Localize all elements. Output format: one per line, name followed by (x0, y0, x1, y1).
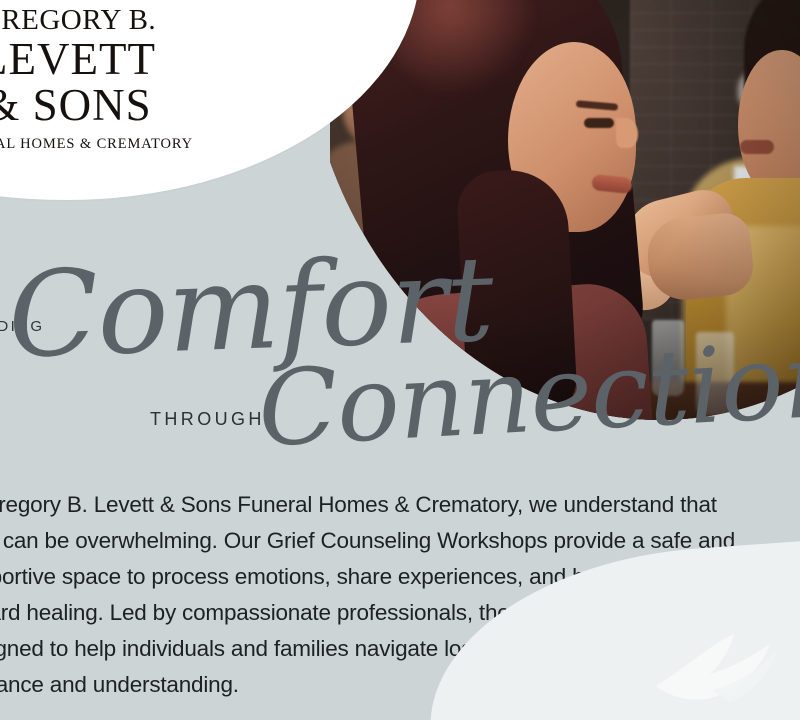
headline-script-connection: Connection (256, 327, 800, 462)
body-line: grief can be overwhelming. Our Grief Cou… (0, 523, 754, 559)
logo-line-2: LEVETT (0, 37, 198, 82)
body-line: At Gregory B. Levett & Sons Funeral Home… (0, 487, 754, 523)
logo-line-3: & SONS (0, 83, 198, 128)
dove-mark-icon (652, 628, 800, 720)
brand-logo: GREGORY B. LEVETT & SONS FUNERAL HOMES &… (0, 6, 198, 152)
logo-line-1: GREGORY B. (0, 6, 198, 35)
logo-line-4: FUNERAL HOMES & CREMATORY (0, 137, 198, 152)
poster-canvas: GREGORY B. LEVETT & SONS FUNERAL HOMES &… (0, 0, 800, 720)
headline-connector: THROUGH (150, 409, 265, 430)
person-foreground-eye (584, 118, 614, 128)
person-foreground-nose (616, 118, 638, 148)
person-right-smile (740, 140, 774, 154)
